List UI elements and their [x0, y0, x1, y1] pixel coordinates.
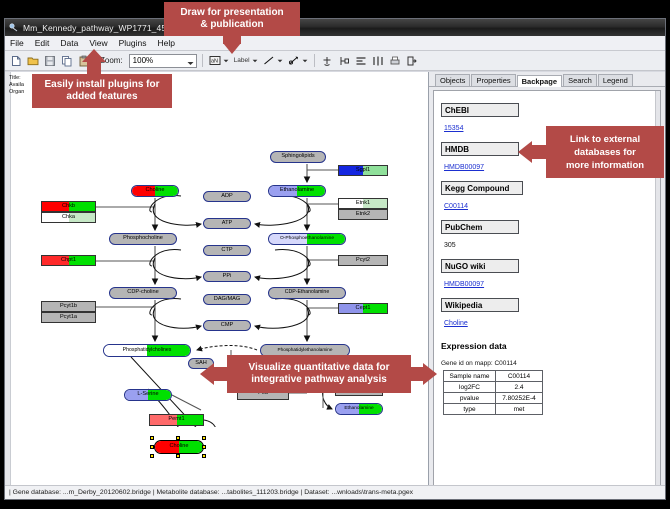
node-label: Pcyt1b — [60, 304, 77, 310]
interaction-tool-icon — [288, 55, 300, 66]
node-label: Chkb — [62, 204, 75, 210]
section-header-kegg-compound: Kegg Compound — [441, 181, 523, 195]
node-choline-top[interactable]: Choline — [131, 185, 179, 197]
selection-handle[interactable] — [202, 454, 206, 458]
node-pcyt1a[interactable]: Pcyt1a — [41, 312, 96, 323]
menu-edit[interactable]: Edit — [33, 38, 52, 48]
selection-handle[interactable] — [150, 436, 154, 440]
nugo-wiki-link[interactable]: HMDB00097 — [444, 281, 484, 288]
table-row: Sample name C00114 — [444, 371, 543, 382]
node-label: Choline — [146, 188, 165, 194]
section-header-hmdb: HMDB — [441, 142, 519, 156]
node-label: Etnk2 — [356, 212, 370, 218]
node-pcyt2[interactable]: Pcyt2 — [338, 255, 388, 266]
node-sgpl1[interactable]: Sgpl1 — [338, 165, 388, 176]
chevron-down-icon — [187, 59, 194, 68]
node-label: Sgpl1 — [356, 168, 370, 174]
callout-line-1: Link to external — [570, 133, 640, 146]
callout-line-1: Visualize quantitative data for — [249, 362, 390, 374]
node-phosphatidylcholines[interactable]: Phosphatidylcholines — [103, 344, 191, 357]
node-chkb[interactable]: Chkb — [41, 201, 96, 212]
row-key: log2FC — [444, 382, 496, 393]
row-value: met — [496, 404, 543, 415]
selection-handle[interactable] — [176, 436, 180, 440]
node-label: CMP — [221, 323, 233, 329]
node-ethanolamine-low[interactable]: Ethanolamine — [335, 403, 383, 415]
node-ppi[interactable]: PPi — [203, 271, 251, 282]
selection-handle[interactable] — [202, 436, 206, 440]
interaction-tool[interactable] — [287, 54, 309, 68]
node-label: Phosphatidylethanolamine — [278, 348, 333, 353]
selection-handle[interactable] — [202, 445, 206, 449]
node-etnk2[interactable]: Etnk2 — [338, 209, 388, 220]
svg-text:aN: aN — [211, 59, 218, 65]
row-value: C00114 — [496, 371, 543, 382]
section-header-pubchem: PubChem — [441, 220, 519, 234]
node-phosphocholine[interactable]: Phosphocholine — [109, 233, 177, 245]
node-label: Pcyt2 — [356, 258, 370, 264]
status-bar: | Gene database: ...m_Derby_20120602.bri… — [5, 485, 665, 499]
chevron-down-icon — [277, 59, 283, 63]
callout-external-databases: Link to external databases for more info… — [546, 126, 664, 178]
title-bar: Mm_Kennedy_pathway_WP1771_45176.gpml — [5, 19, 665, 36]
wikipedia-link[interactable]: Choline — [444, 320, 468, 327]
callout-install-plugins: Easily install plugins for added feature… — [32, 74, 172, 108]
menu-help[interactable]: Help — [156, 38, 177, 48]
chevron-down-icon — [302, 59, 308, 63]
row-key: Sample name — [444, 371, 496, 382]
node-label: Chka — [62, 215, 75, 221]
node-label: PPi — [223, 274, 232, 280]
chevron-down-icon — [252, 59, 258, 63]
row-key: pvalue — [444, 393, 496, 404]
menu-data[interactable]: Data — [58, 38, 80, 48]
node-chka[interactable]: Chka — [41, 212, 96, 223]
node-cdp-ethanolamine[interactable]: CDP-Ethanolamine — [268, 287, 346, 299]
node-l-serine-left[interactable]: L-Serine — [124, 389, 172, 401]
section-header-nugo-wiki: NuGO wiki — [441, 259, 519, 273]
row-key: type — [444, 404, 496, 415]
pathvisio-icon — [9, 23, 19, 33]
node-cept1[interactable]: Cept1 — [338, 303, 388, 314]
chevron-down-icon — [223, 59, 229, 63]
gene-id-on-mapp: Gene id on mapp: C00114 — [441, 360, 652, 367]
line-tool[interactable] — [262, 54, 284, 68]
toolbar-separator — [202, 54, 203, 67]
node-atp[interactable]: ATP — [203, 218, 251, 229]
kegg-compound-link[interactable]: C00114 — [444, 203, 468, 210]
section-header-chebi: ChEBI — [441, 103, 519, 117]
node-dagmag[interactable]: DAG/MAG — [203, 294, 251, 305]
node-label: DAG/MAG — [214, 297, 240, 303]
status-text: | Gene database: ...m_Derby_20120602.bri… — [9, 489, 413, 496]
node-adp[interactable]: ADP — [203, 191, 251, 202]
bracket-icon[interactable] — [337, 54, 351, 68]
node-label: L-Serine — [137, 392, 158, 398]
selection-handle[interactable] — [150, 445, 154, 449]
node-cdp-choline[interactable]: CDP-choline — [109, 287, 177, 299]
node-label: ADP — [221, 194, 233, 200]
meta-organism: Organ — [9, 89, 24, 96]
node-label: Pemt1 — [168, 417, 184, 423]
datanode-tool[interactable]: aN — [208, 54, 230, 68]
table-row: log2FC 2.4 — [444, 382, 543, 393]
expression-table: Sample name C00114 log2FC 2.4 pvalue 7.8… — [443, 370, 543, 415]
node-label: CDP-choline — [127, 290, 158, 296]
node-o-phosphoethanolamine[interactable]: O-Phosphoethanolamine — [268, 233, 346, 245]
callout-link-arrow — [518, 141, 532, 163]
node-ethanolamine-top[interactable]: Ethanolamine — [268, 185, 326, 197]
tab-legend[interactable]: Legend — [598, 74, 633, 87]
node-label: Etnk1 — [356, 201, 370, 207]
section-header-wikipedia: Wikipedia — [441, 298, 519, 312]
row-value: 2.4 — [496, 382, 543, 393]
selection-handle[interactable] — [176, 454, 180, 458]
tab-properties[interactable]: Properties — [471, 74, 515, 87]
node-label: Cept1 — [356, 306, 371, 312]
callout-line-3: more information — [566, 159, 644, 172]
node-label: Sphingolipids — [281, 154, 314, 160]
selection-handle[interactable] — [150, 454, 154, 458]
callout-visualize-arrow-left — [200, 363, 214, 385]
zoom-combo[interactable]: 100% — [129, 54, 197, 68]
screenshot-root: Mm_Kennedy_pathway_WP1771_45176.gpml Fil… — [0, 0, 670, 509]
tab-search[interactable]: Search — [563, 74, 597, 87]
print-icon[interactable] — [388, 54, 402, 68]
callout-draw-for-publication: Draw for presentation & publication — [164, 2, 300, 36]
distribute-icon[interactable] — [371, 54, 385, 68]
toolbar-separator — [314, 54, 315, 67]
node-ctp[interactable]: CTP — [203, 245, 251, 256]
callout-line-2: databases for — [574, 146, 636, 159]
callout-visualize-arrow-right — [423, 363, 437, 385]
copy-icon[interactable] — [60, 54, 74, 68]
menu-plugins[interactable]: Plugins — [117, 38, 149, 48]
hmdb-link[interactable]: HMDB00097 — [444, 164, 484, 171]
menu-file[interactable]: File — [8, 38, 26, 48]
new-document-icon[interactable] — [9, 54, 23, 68]
callout-visualize-data: Visualize quantitative data for integrat… — [227, 355, 411, 393]
node-chpt1[interactable]: Chpt1 — [41, 255, 96, 266]
node-label: Pcyt1a — [60, 315, 77, 321]
side-panel-tabs: Objects Properties Backpage Search Legen… — [429, 72, 665, 87]
canvas-ruler — [5, 72, 11, 485]
label-tool[interactable]: Label — [233, 54, 259, 68]
pathway-canvas[interactable]: Title: Availa Organ — [5, 72, 428, 485]
node-label: Ethanolamine — [280, 188, 314, 194]
meta-title: Title: — [9, 75, 24, 82]
zoom-value: 100% — [133, 56, 153, 65]
tab-objects[interactable]: Objects — [435, 74, 470, 87]
save-disk-icon[interactable] — [43, 54, 57, 68]
node-label: CTP — [221, 248, 232, 254]
node-label: Choline — [170, 444, 189, 450]
node-label: Phosphocholine — [123, 236, 163, 242]
meta-availability: Availa — [9, 82, 24, 89]
table-row: pvalue 7.80252E-4 — [444, 393, 543, 404]
callout-line-1: Draw for presentation — [180, 7, 283, 19]
pathway-meta: Title: Availa Organ — [9, 75, 24, 96]
callout-line-2: & publication — [200, 19, 263, 31]
node-label: Chpt1 — [61, 258, 76, 264]
callout-draw-arrow — [223, 43, 241, 54]
callout-line-2: added features — [66, 91, 137, 103]
node-label: CDP-Ethanolamine — [285, 290, 329, 295]
label-tool-label: Label — [234, 57, 250, 64]
open-folder-icon[interactable] — [26, 54, 40, 68]
node-label: Ethanolamine — [344, 407, 373, 412]
callout-line-2: integrative pathway analysis — [251, 374, 387, 386]
row-value: 7.80252E-4 — [496, 393, 543, 404]
chebi-link[interactable]: 15354 — [444, 125, 463, 132]
node-sphingolipids[interactable]: Sphingolipids — [270, 151, 326, 163]
node-pcyt1b[interactable]: Pcyt1b — [41, 301, 96, 312]
node-etnk1[interactable]: Etnk1 — [338, 198, 388, 209]
pathway-canvas-pane[interactable]: Title: Availa Organ — [5, 72, 429, 499]
node-pemt1[interactable]: Pemt1 — [149, 414, 204, 426]
node-cmp[interactable]: CMP — [203, 320, 251, 331]
menu-view[interactable]: View — [87, 38, 109, 48]
node-label: O-Phosphoethanolamine — [280, 237, 334, 242]
callout-line-1: Easily install plugins for — [44, 79, 159, 91]
datanode-icon: aN — [209, 55, 221, 66]
tab-backpage[interactable]: Backpage — [517, 75, 562, 88]
table-row: type met — [444, 404, 543, 415]
anchor-icon[interactable] — [320, 54, 334, 68]
node-label: Phosphatidylcholines — [123, 348, 172, 353]
export-icon[interactable] — [405, 54, 419, 68]
callout-plugins-arrow — [82, 49, 106, 62]
line-tool-icon — [263, 55, 275, 66]
expression-data-title: Expression data — [441, 341, 652, 351]
pubchem-value: 305 — [444, 242, 456, 249]
node-choline-selected[interactable]: Choline — [154, 440, 204, 454]
node-label: ATP — [222, 221, 232, 227]
align-rows-icon[interactable] — [354, 54, 368, 68]
